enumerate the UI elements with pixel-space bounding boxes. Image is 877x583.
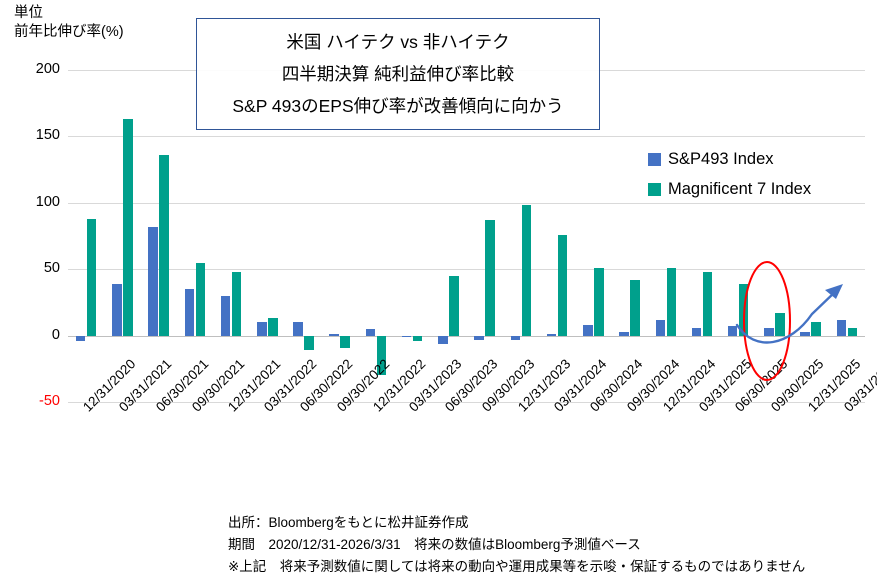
bar-sp493 [366, 329, 376, 336]
bar-magnificent7 [159, 155, 169, 336]
bar-magnificent7 [739, 284, 749, 336]
bar-sp493 [329, 334, 339, 336]
bar-sp493 [764, 328, 774, 336]
bar-sp493 [511, 336, 521, 340]
bar-magnificent7 [811, 322, 821, 335]
bar-magnificent7 [775, 313, 785, 336]
legend-swatch-icon-magnificent7 [648, 183, 661, 196]
bar-sp493 [837, 320, 847, 336]
bar-magnificent7 [848, 328, 858, 336]
bar-sp493 [402, 336, 412, 338]
footer-disclaimer: ※上記 将来予測数値に関しては将来の動向や運用成果等を示唆・保証するものではあり… [228, 559, 805, 574]
chart-root: 単位 前年比伸び率(%) -50050100150200 12/31/20200… [0, 0, 877, 583]
bar-magnificent7 [667, 268, 677, 336]
y-axis-tick-label: 200 [14, 61, 60, 77]
axis-unit-caption: 単位 前年比伸び率(%) [14, 4, 124, 42]
bar-magnificent7 [196, 263, 206, 336]
chart-legend: S&P493 Index Magnificent 7 Index [648, 144, 811, 204]
bar-magnificent7 [413, 336, 423, 341]
y-axis-tick-label: 0 [14, 327, 60, 343]
bar-magnificent7 [304, 336, 314, 351]
footer-source: 出所：Bloombergをもとに松井証券作成 [228, 515, 469, 530]
bar-sp493 [221, 296, 231, 336]
chart-footer: 出所：Bloombergをもとに松井証券作成 期間 2020/12/31-202… [228, 512, 805, 578]
chart-title-line2: 四半期決算 純利益伸び率比較 [282, 59, 514, 89]
bar-sp493 [474, 336, 484, 340]
bar-sp493 [619, 332, 629, 336]
bar-sp493 [293, 322, 303, 335]
bar-sp493 [112, 284, 122, 336]
bar-magnificent7 [268, 318, 278, 335]
bar-sp493 [692, 328, 702, 336]
bar-magnificent7 [87, 219, 97, 336]
bar-magnificent7 [558, 235, 568, 336]
bar-magnificent7 [449, 276, 459, 336]
axis-unit-line1: 単位 [14, 5, 43, 21]
bar-sp493 [656, 320, 666, 336]
chart-title-line1: 米国 ハイテク vs 非ハイテク [286, 27, 509, 57]
y-axis-labels: -50050100150200 [8, 70, 60, 402]
bar-magnificent7 [123, 119, 133, 335]
legend-item-sp493: S&P493 Index [648, 144, 811, 174]
y-axis-tick-label: 50 [14, 260, 60, 276]
bar-magnificent7 [522, 205, 532, 335]
bar-magnificent7 [630, 280, 640, 336]
bar-magnificent7 [703, 272, 713, 336]
legend-label-magnificent7: Magnificent 7 Index [668, 180, 811, 199]
legend-swatch-icon-sp493 [648, 153, 661, 166]
axis-unit-line2: 前年比伸び率(%) [14, 24, 124, 40]
bar-sp493 [800, 332, 810, 336]
y-axis-tick-label: 150 [14, 127, 60, 143]
bar-sp493 [76, 336, 86, 341]
footer-period: 期間 2020/12/31-2026/3/31 将来の数値はBloomberg予… [228, 537, 641, 552]
bar-magnificent7 [340, 336, 350, 348]
y-axis-tick-label: 100 [14, 194, 60, 210]
chart-title-line3: S&P 493のEPS伸び率が改善傾向に向かう [232, 91, 563, 121]
chart-title-box: 米国 ハイテク vs 非ハイテク 四半期決算 純利益伸び率比較 S&P 493の… [196, 18, 600, 130]
x-axis-labels: 12/31/202003/31/202106/30/202109/30/2021… [68, 404, 865, 504]
bar-magnificent7 [485, 220, 495, 336]
legend-item-magnificent7: Magnificent 7 Index [648, 174, 811, 204]
y-axis-tick-label: -50 [14, 393, 60, 409]
bar-magnificent7 [232, 272, 242, 336]
bar-sp493 [728, 326, 738, 335]
bar-magnificent7 [594, 268, 604, 336]
bar-sp493 [438, 336, 448, 344]
bar-sp493 [257, 322, 267, 335]
bar-sp493 [547, 334, 557, 336]
bar-sp493 [185, 289, 195, 335]
legend-label-sp493: S&P493 Index [668, 150, 774, 169]
bar-sp493 [148, 227, 158, 336]
bar-sp493 [583, 325, 593, 336]
